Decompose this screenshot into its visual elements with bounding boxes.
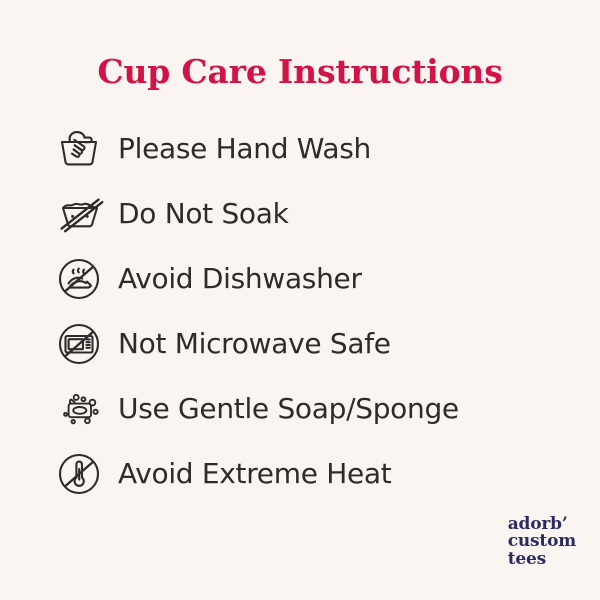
list-item: Not Microwave Safe [52, 311, 552, 376]
list-item: Avoid Extreme Heat [52, 441, 552, 506]
list-item-label: Not Microwave Safe [118, 330, 391, 358]
no-dishwasher-icon [52, 251, 118, 307]
page-title: Cup Care Instructions [0, 52, 600, 91]
list-item-label: Avoid Dishwasher [118, 265, 362, 293]
list-item-label: Do Not Soak [118, 200, 289, 228]
list-item: Avoid Dishwasher [52, 246, 552, 311]
brand-logo: adorb’ custom tees [508, 516, 576, 568]
logo-line-3: tees [508, 551, 576, 568]
hand-wash-icon [52, 121, 118, 177]
list-item: Please Hand Wash [52, 116, 552, 181]
instructions-list: Please Hand Wash Do Not Soak [52, 116, 552, 506]
list-item-label: Please Hand Wash [118, 135, 371, 163]
no-microwave-icon [52, 316, 118, 372]
list-item: Use Gentle Soap/Sponge [52, 376, 552, 441]
care-instructions-card: Cup Care Instructions Please Hand Wash [0, 0, 600, 600]
no-heat-thermometer-icon [52, 446, 118, 502]
list-item: Do Not Soak [52, 181, 552, 246]
no-soak-icon [52, 186, 118, 242]
list-item-label: Use Gentle Soap/Sponge [118, 395, 459, 423]
soap-bubbles-icon [52, 381, 118, 437]
list-item-label: Avoid Extreme Heat [118, 460, 391, 488]
